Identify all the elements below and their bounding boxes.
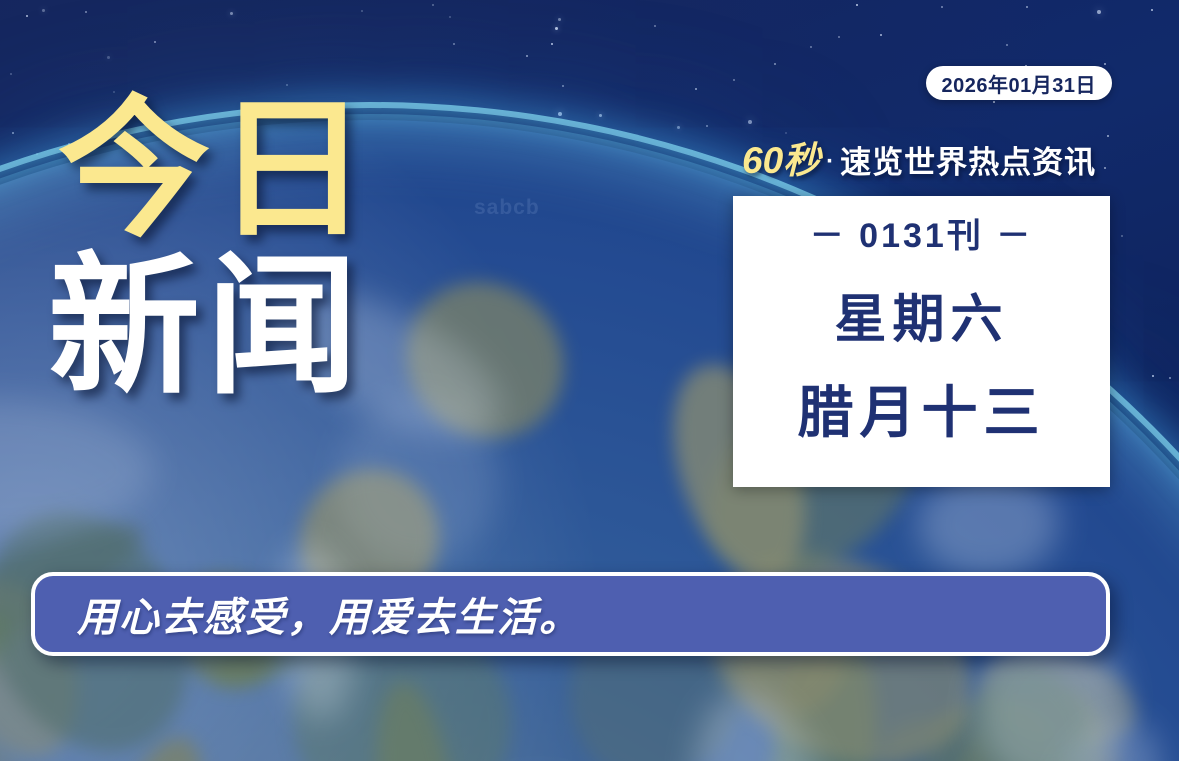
tagline-text: 速览世界热点资讯 (840, 147, 1096, 179)
title-line-jinri: 今日 (48, 96, 374, 245)
date-info-card: － 0131刊 － 星期六 腊月十三 (733, 196, 1110, 487)
tagline-seconds: 60秒 (742, 142, 820, 179)
news-poster: sabcb 今日 新闻 2026年01月31日 60秒 · 速览世界热点资讯 －… (0, 0, 1179, 761)
card-weekday: 星期六 (834, 277, 1008, 352)
date-badge: 2026年01月31日 (926, 66, 1112, 100)
slogan-text: 用心去感受，用爱去生活。 (77, 585, 581, 643)
watermark-text: sabcb (474, 196, 540, 220)
poster-title: 今日 新闻 (48, 96, 374, 402)
title-line-xinwen: 新闻 (48, 253, 374, 402)
card-lunar-date: 腊月十三 (798, 368, 1046, 449)
tagline-separator-dot: · (826, 150, 834, 179)
card-issue-number: － 0131刊 － (810, 208, 1034, 257)
tagline: 60秒 · 速览世界热点资讯 (742, 142, 1096, 179)
slogan-banner: 用心去感受，用爱去生活。 (31, 572, 1110, 656)
